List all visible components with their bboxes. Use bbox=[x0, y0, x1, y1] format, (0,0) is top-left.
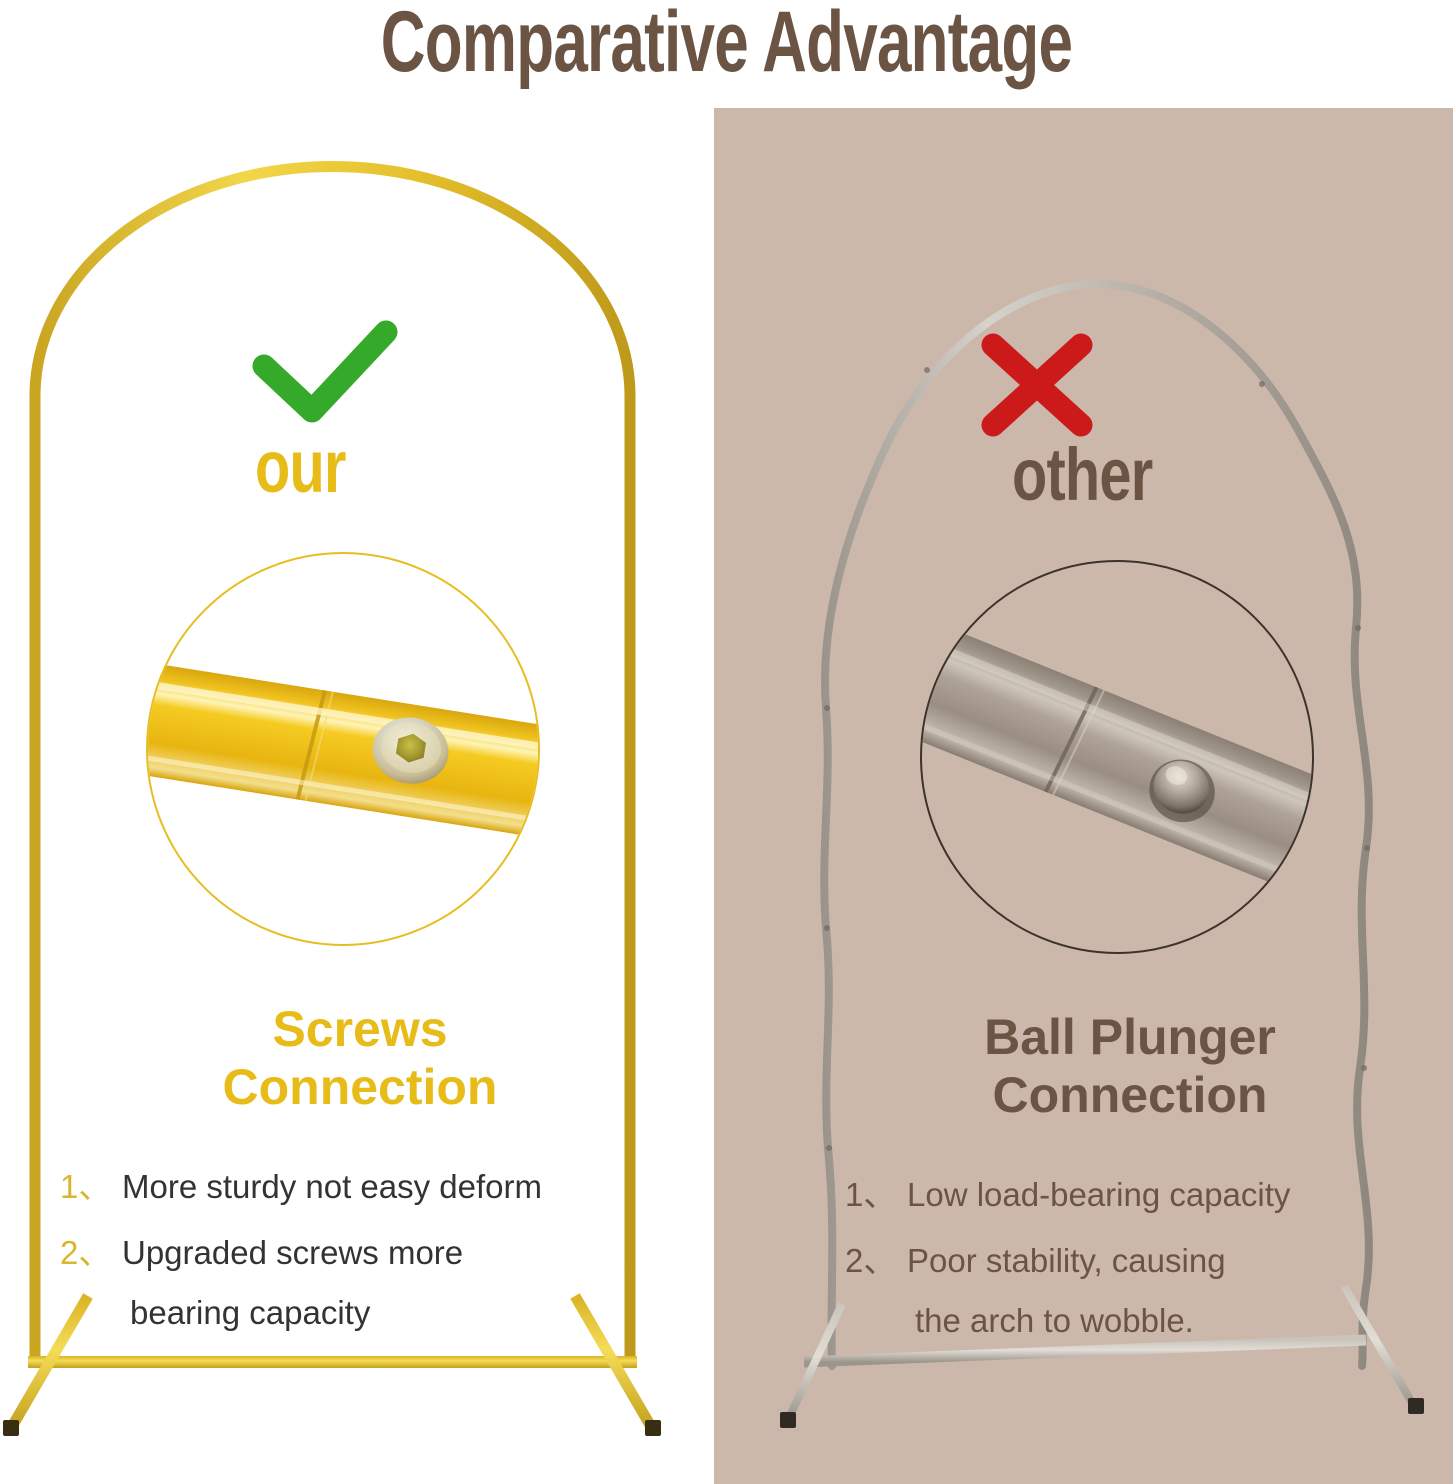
bullet-number: 1、 bbox=[60, 1168, 122, 1206]
list-item: 1、 More sturdy not easy deform bbox=[60, 1168, 670, 1206]
bullet-text: More sturdy not easy deform bbox=[122, 1168, 670, 1206]
detail-circle-screw-connection bbox=[146, 552, 540, 946]
list-item: 1、 Low load-bearing capacity bbox=[845, 1176, 1453, 1214]
right-panel-other: other bbox=[714, 108, 1453, 1484]
bullet-number: 1、 bbox=[845, 1176, 907, 1214]
bullet-continuation: bearing capacity bbox=[130, 1294, 670, 1332]
list-item: 2、 Upgraded screws more bbox=[60, 1234, 670, 1272]
bullet-continuation: the arch to wobble. bbox=[915, 1302, 1453, 1340]
right-heading: Ball Plunger Connection bbox=[830, 1008, 1430, 1124]
badge-other-label: other bbox=[1012, 438, 1152, 512]
left-bullet-list: 1、 More sturdy not easy deform 2、 Upgrad… bbox=[60, 1168, 670, 1360]
list-item: 2、 Poor stability, causing bbox=[845, 1242, 1453, 1280]
left-heading: Screws Connection bbox=[60, 1000, 660, 1116]
bullet-text: Poor stability, causing bbox=[907, 1242, 1453, 1280]
page-title: Comparative Advantage bbox=[203, 0, 1249, 86]
cross-mark-icon bbox=[976, 330, 1098, 440]
bullet-number: 2、 bbox=[845, 1242, 907, 1280]
comparison-infographic: Comparative Advantage bbox=[0, 0, 1453, 1484]
right-bullet-list: 1、 Low load-bearing capacity 2、 Poor sta… bbox=[845, 1176, 1453, 1368]
bullet-text: Upgraded screws more bbox=[122, 1234, 670, 1272]
badge-our-label: our bbox=[255, 430, 346, 504]
bullet-text: Low load-bearing capacity bbox=[907, 1176, 1453, 1214]
bullet-number: 2、 bbox=[60, 1234, 122, 1272]
detail-circle-ball-plunger-connection bbox=[920, 560, 1314, 954]
check-mark-icon bbox=[250, 318, 400, 428]
left-panel-our: our bbox=[0, 100, 714, 1484]
